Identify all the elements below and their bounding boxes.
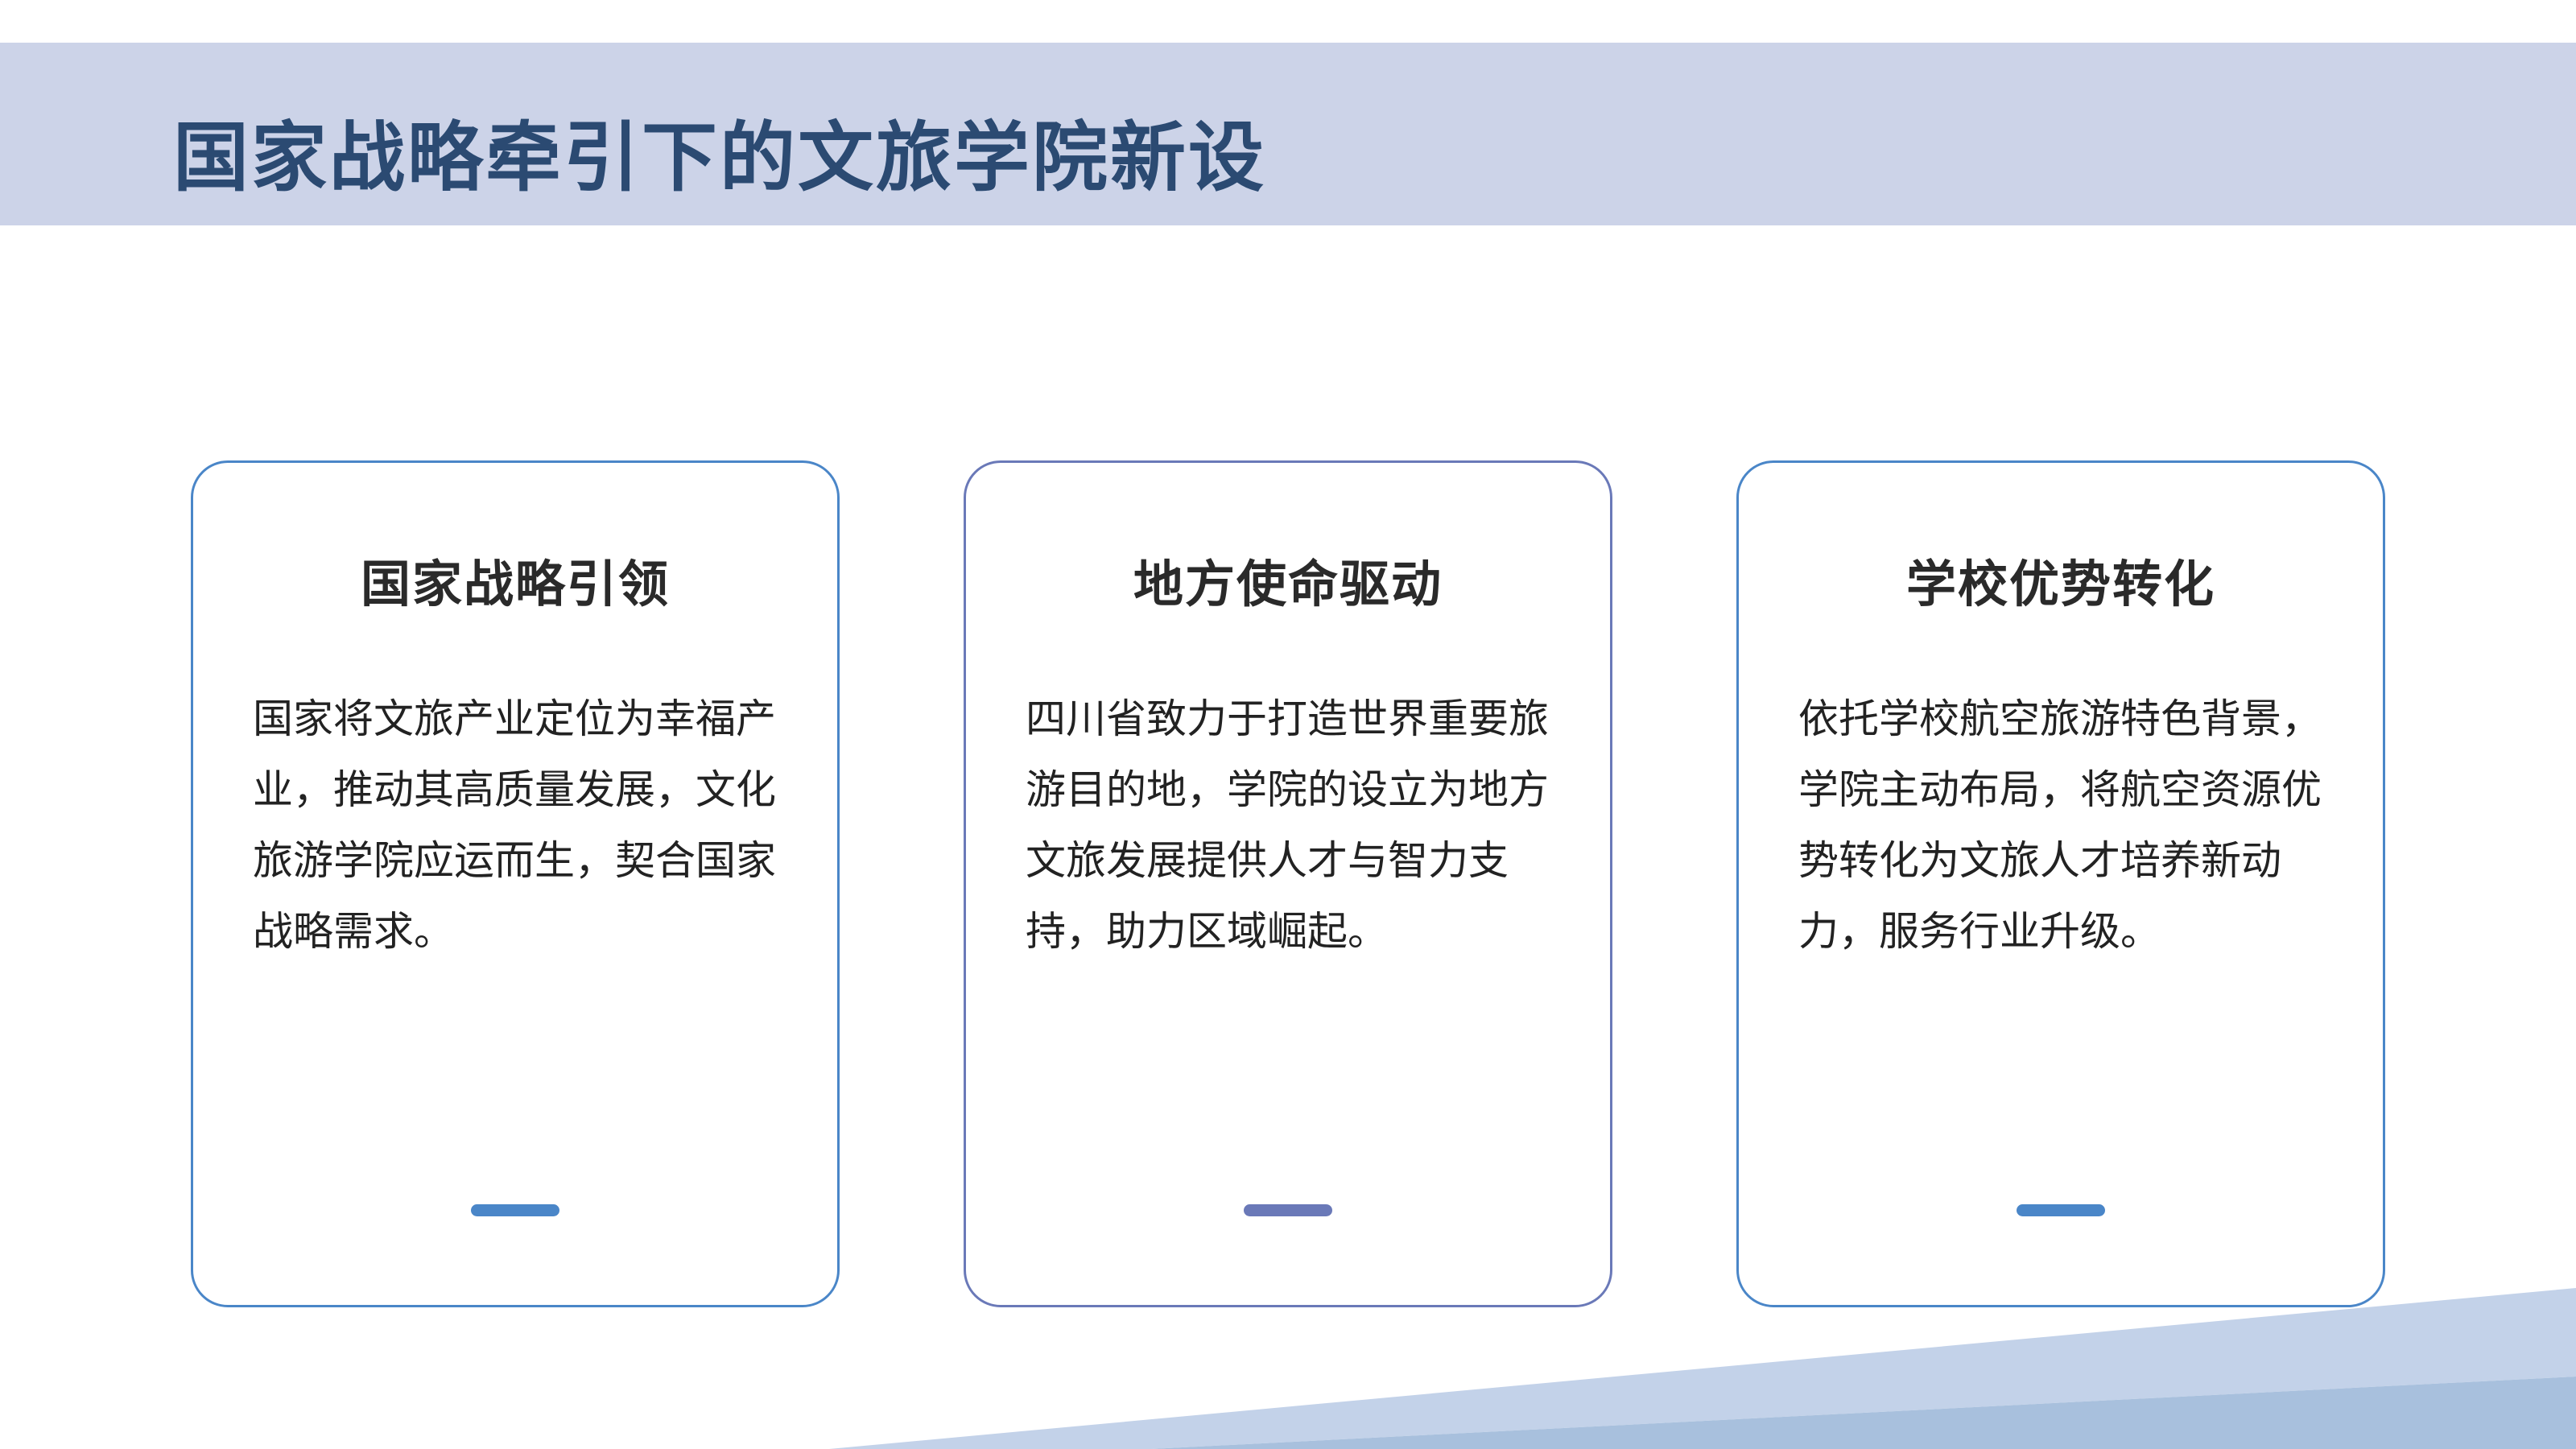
- card-accent-bar: [1244, 1204, 1332, 1216]
- header-band: 国家战略牵引下的文旅学院新设: [0, 43, 2576, 225]
- card-accent-bar: [2017, 1204, 2105, 1216]
- diagonal-band-light: [829, 1288, 2576, 1449]
- card-title: 学校优势转化: [1906, 556, 2215, 614]
- feature-card-national-strategy[interactable]: 国家战略引领 国家将文旅产业定位为幸福产业，推动其高质量发展，文化旅游学院应运而…: [191, 460, 840, 1307]
- feature-cards-row: 国家战略引领 国家将文旅产业定位为幸福产业，推动其高质量发展，文化旅游学院应运而…: [191, 460, 2385, 1307]
- card-body-text: 四川省致力于打造世界重要旅游目的地，学院的设立为地方文旅发展提供人才与智力支持，…: [1026, 683, 1550, 967]
- card-title: 地方使命驱动: [1133, 556, 1443, 614]
- diagonal-band-dark: [1151, 1377, 2576, 1449]
- card-body-text: 依托学校航空旅游特色背景，学院主动布局，将航空资源优势转化为文旅人才培养新动力，…: [1798, 683, 2323, 967]
- feature-card-school-advantage[interactable]: 学校优势转化 依托学校航空旅游特色背景，学院主动布局，将航空资源优势转化为文旅人…: [1736, 460, 2385, 1307]
- card-body-text: 国家将文旅产业定位为幸福产业，推动其高质量发展，文化旅游学院应运而生，契合国家战…: [253, 683, 778, 967]
- card-accent-bar: [471, 1204, 559, 1216]
- card-title: 国家战略引领: [361, 556, 670, 614]
- page-title: 国家战略牵引下的文旅学院新设: [173, 114, 1266, 202]
- feature-card-local-mission[interactable]: 地方使命驱动 四川省致力于打造世界重要旅游目的地，学院的设立为地方文旅发展提供人…: [964, 460, 1612, 1307]
